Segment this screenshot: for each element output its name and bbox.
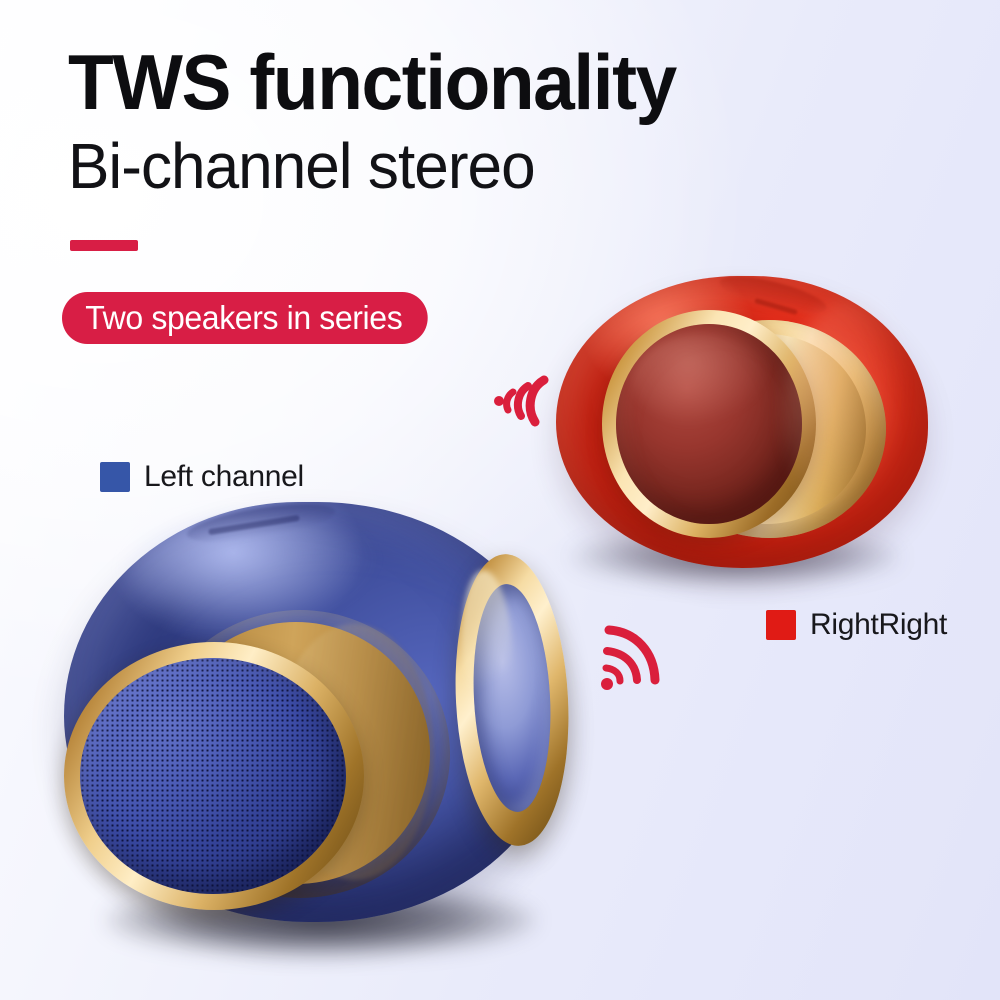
legend-label-left: Left channel [144, 460, 304, 494]
legend-swatch-red [766, 610, 796, 640]
legend-swatch-blue [100, 462, 130, 492]
blue-bluetooth-speaker [58, 492, 618, 962]
blue-speaker-mesh-grille [80, 658, 346, 894]
red-speaker-driver-highlight [632, 334, 772, 426]
page-subtitle: Bi-channel stereo [68, 134, 535, 198]
accent-divider [70, 240, 138, 251]
red-speaker-body-highlight [784, 302, 910, 522]
legend-left-channel: Left channel [100, 460, 304, 494]
legend-right-channel: RightRight [766, 608, 947, 642]
legend-label-right: RightRight [810, 608, 947, 642]
wifi-signal-icon [486, 356, 560, 440]
feature-badge: Two speakers in series [62, 292, 428, 344]
page-title: TWS functionality [68, 44, 676, 120]
product-poster: TWS functionality Bi-channel stereo Two … [0, 0, 1000, 1000]
